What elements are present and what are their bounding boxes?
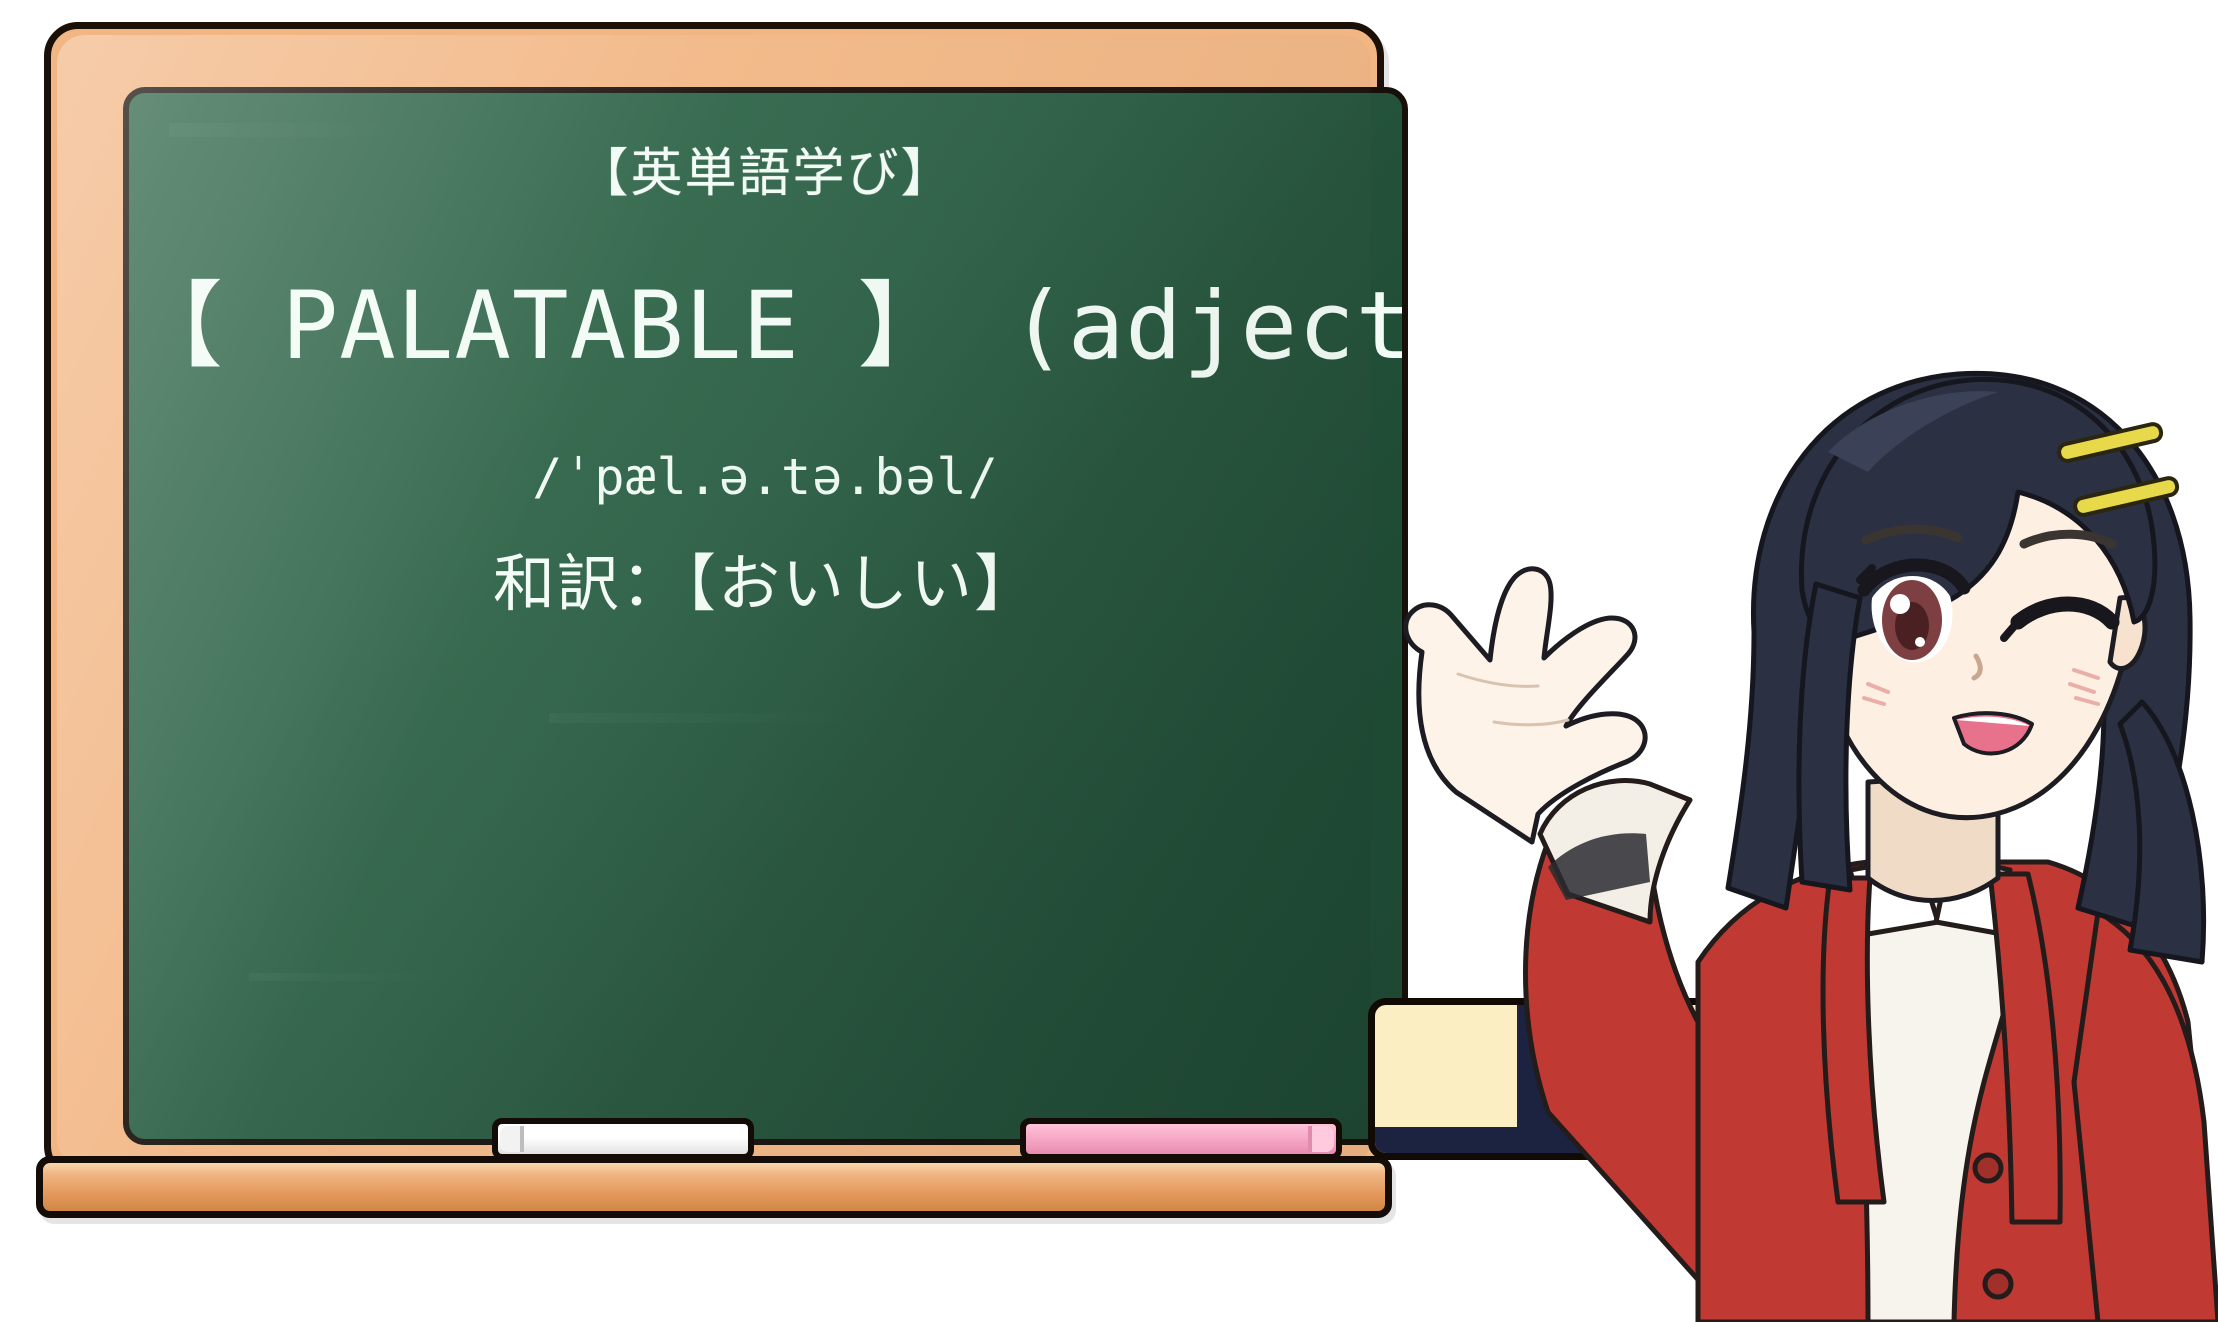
chalk-end-cap	[1308, 1126, 1334, 1152]
chalk-smudge	[549, 713, 869, 723]
character-icon	[1398, 322, 2218, 1322]
japanese-translation: 和訳：【おいしい】	[129, 533, 1402, 623]
chalkboard-frame: 【英単語学び】 【 PALATABLE 】 (adjective) /ˈpæl.…	[44, 22, 1384, 1180]
hair-side-lock	[1799, 584, 1860, 890]
hairclip-icon	[2058, 423, 2179, 517]
eye-open	[1860, 565, 1964, 662]
face	[1816, 404, 2134, 818]
dress-shirt	[1850, 870, 2010, 1322]
lesson-title: 【英単語学び】	[129, 131, 1402, 206]
ipa-pronunciation: /ˈpæl.ə.tə.bəl/	[129, 448, 1402, 506]
chalk-end-cap	[500, 1126, 524, 1152]
shirt-cuff	[1540, 781, 1690, 922]
chalkboard-surface: 【英単語学び】 【 PALATABLE 】 (adjective) /ˈpæl.…	[123, 87, 1408, 1145]
open-hand-icon	[1406, 569, 1645, 842]
hair-back	[1728, 373, 2190, 928]
mouth	[1954, 713, 2032, 753]
blazer-button	[1985, 1271, 2011, 1297]
chalk-tray	[36, 1156, 1392, 1218]
blazer-lapel	[1990, 874, 2060, 1222]
neck	[1868, 774, 1998, 901]
vocabulary-word-line: 【 PALATABLE 】 (adjective)	[129, 278, 1402, 377]
blush	[1864, 670, 2098, 704]
blazer-lapel	[1823, 878, 1884, 1202]
chalk-icon-white	[492, 1118, 754, 1160]
hair-bangs	[1801, 379, 2154, 639]
chalk-icon-pink	[1020, 1118, 1342, 1160]
blazer-sleeve-right	[2074, 912, 2218, 1322]
screenshot-stage: 【英単語学び】 【 PALATABLE 】 (adjective) /ˈpæl.…	[0, 0, 2218, 1322]
eraser-icon	[1368, 998, 1720, 1160]
wink-eye-icon	[2004, 604, 2112, 638]
hair-side-tail	[2120, 702, 2204, 962]
blazer-button	[1975, 1155, 2001, 1181]
chalk-smudge	[249, 973, 449, 981]
eraser-felt	[1375, 1127, 1713, 1153]
blazer-body	[1698, 862, 2218, 1322]
